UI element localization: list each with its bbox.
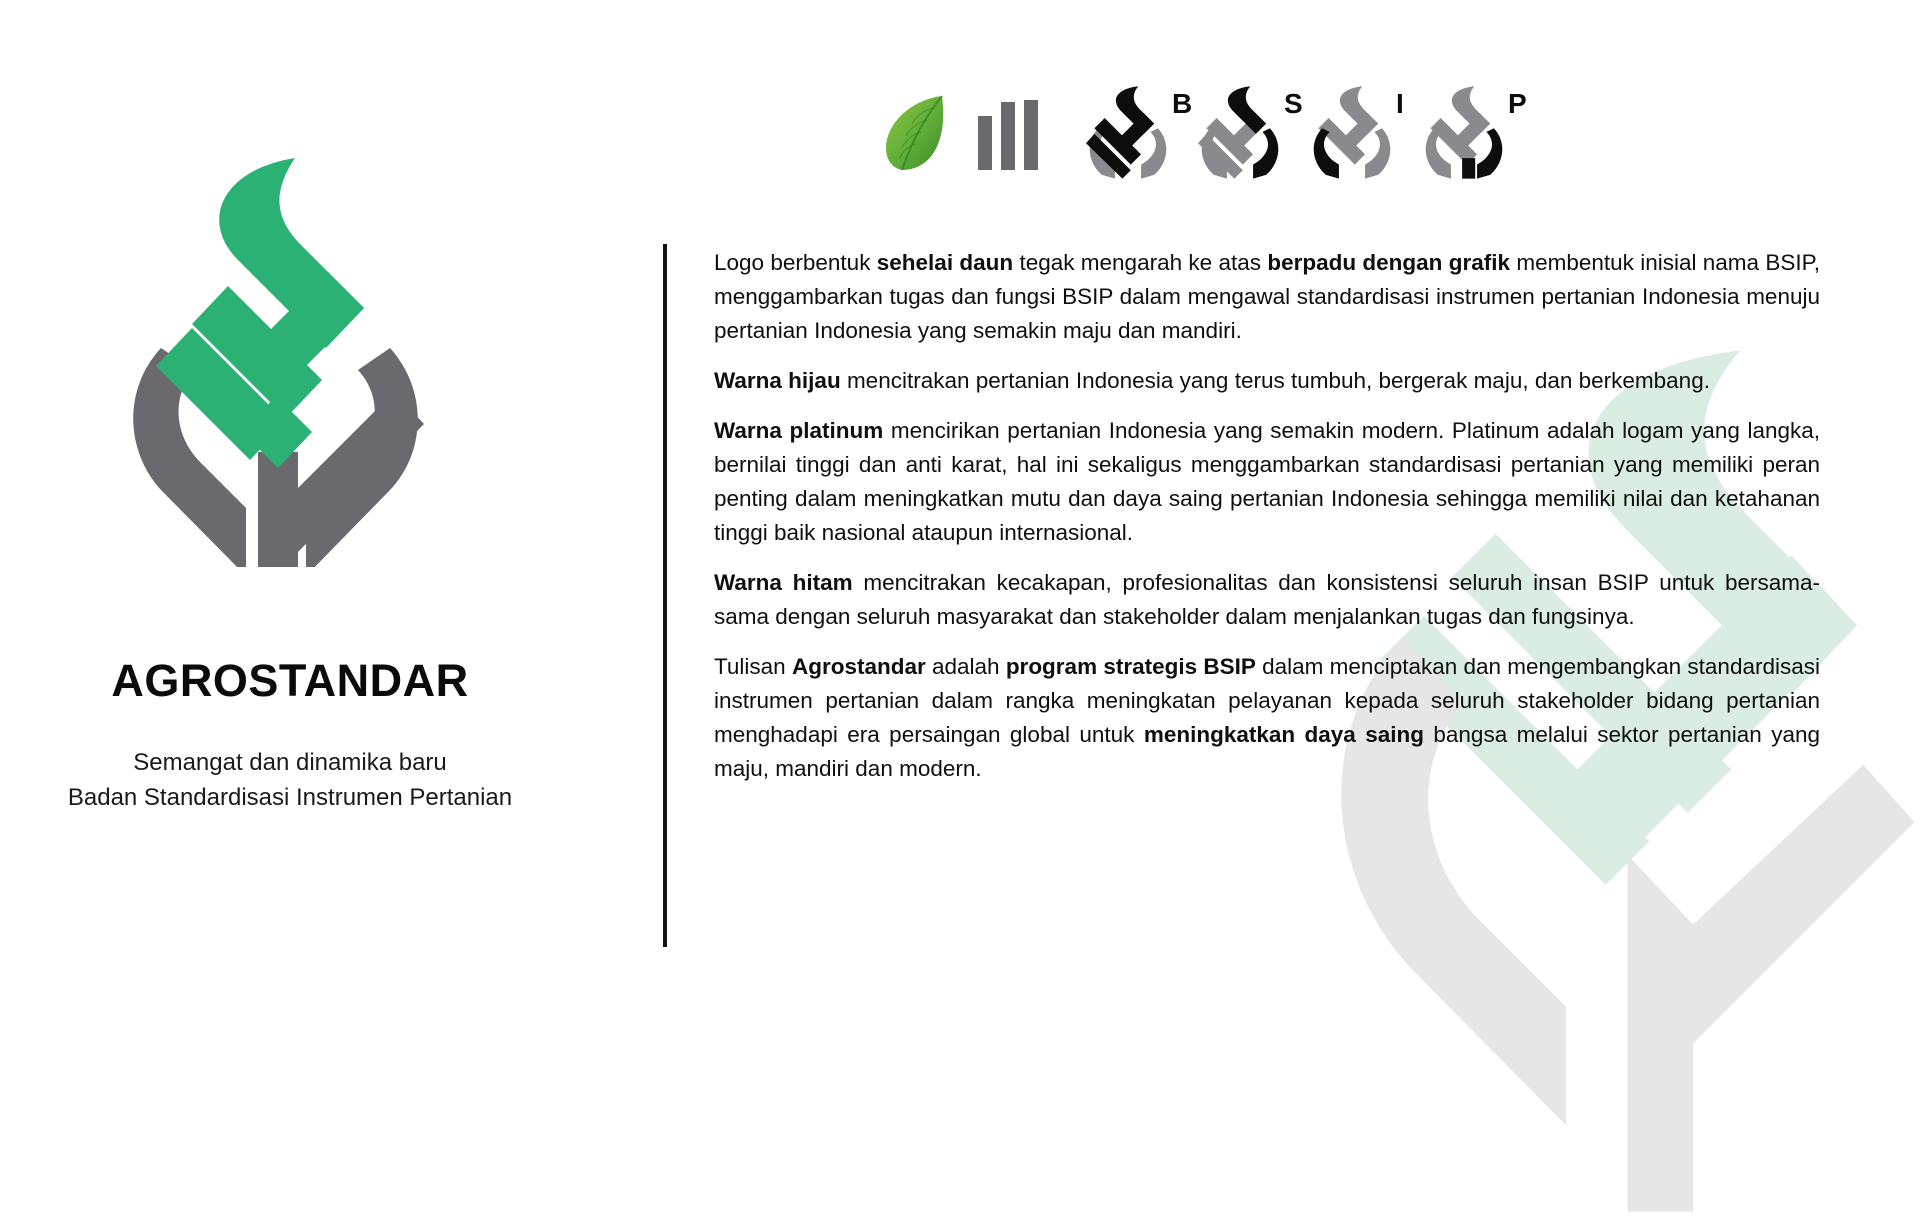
agrostandar-logo [128, 152, 438, 567]
emphasis-text: Agrostandar [792, 654, 926, 679]
description-paragraph: Warna hitam mencitrakan kecakapan, profe… [714, 566, 1820, 634]
body-text: mencitrakan pertanian Indonesia yang ter… [841, 368, 1710, 393]
body-text: mencitrakan kecakapan, profesionalitas d… [714, 570, 1820, 629]
emphasis-text: Warna hitam [714, 570, 853, 595]
tagline-line-1: Semangat dan dinamika baru [0, 745, 580, 780]
emphasis-text: sehelai daun [877, 250, 1013, 275]
bsip-mark-p-icon [1422, 84, 1506, 180]
emphasis-text: Warna platinum [714, 418, 883, 443]
icon-cell-b: B [1086, 82, 1198, 182]
icon-cell-i: I [1310, 82, 1422, 182]
icon-cell-s: S [1198, 82, 1310, 182]
body-text: Logo berbentuk [714, 250, 877, 275]
bsip-mark-b-icon [1086, 84, 1170, 180]
description-paragraph: Warna hijau mencitrakan pertanian Indone… [714, 364, 1820, 398]
description-paragraph: Tulisan Agrostandar adalah program strat… [714, 650, 1820, 786]
icon-letter-p: P [1508, 88, 1527, 120]
logo-element-strip: B S [880, 82, 1534, 182]
bsip-mark-i-icon [1310, 84, 1394, 180]
icon-letter-b: B [1172, 88, 1192, 120]
emphasis-text: program strategis BSIP [1006, 654, 1256, 679]
emphasis-text: meningkatkan daya saing [1144, 722, 1424, 747]
logo-description-text: Logo berbentuk sehelai daun tegak mengar… [714, 246, 1820, 786]
description-paragraph: Logo berbentuk sehelai daun tegak mengar… [714, 246, 1820, 348]
brand-tagline: Semangat dan dinamika baru Badan Standar… [0, 745, 580, 815]
icon-cell-p: P [1422, 82, 1534, 182]
icon-cell-leaf [880, 82, 976, 182]
icon-letter-i: I [1396, 88, 1404, 120]
vertical-divider [663, 244, 667, 947]
icon-cell-bars [976, 82, 1086, 182]
tagline-line-2: Badan Standardisasi Instrumen Pertanian [0, 780, 580, 815]
icon-letter-s: S [1284, 88, 1303, 120]
page-title: AGROSTANDAR [0, 655, 580, 707]
bsip-mark-s-icon [1198, 84, 1282, 180]
three-bars-graphic-icon [976, 94, 1042, 170]
body-text: adalah [926, 654, 1006, 679]
emphasis-text: berpadu dengan grafik [1267, 250, 1510, 275]
body-text: Tulisan [714, 654, 792, 679]
body-text: tegak mengarah ke atas [1013, 250, 1267, 275]
leaf-photo-icon [880, 90, 952, 174]
emphasis-text: Warna hijau [714, 368, 841, 393]
brand-panel: AGROSTANDAR Semangat dan dinamika baru B… [0, 0, 662, 1080]
description-paragraph: Warna platinum mencirikan pertanian Indo… [714, 414, 1820, 550]
